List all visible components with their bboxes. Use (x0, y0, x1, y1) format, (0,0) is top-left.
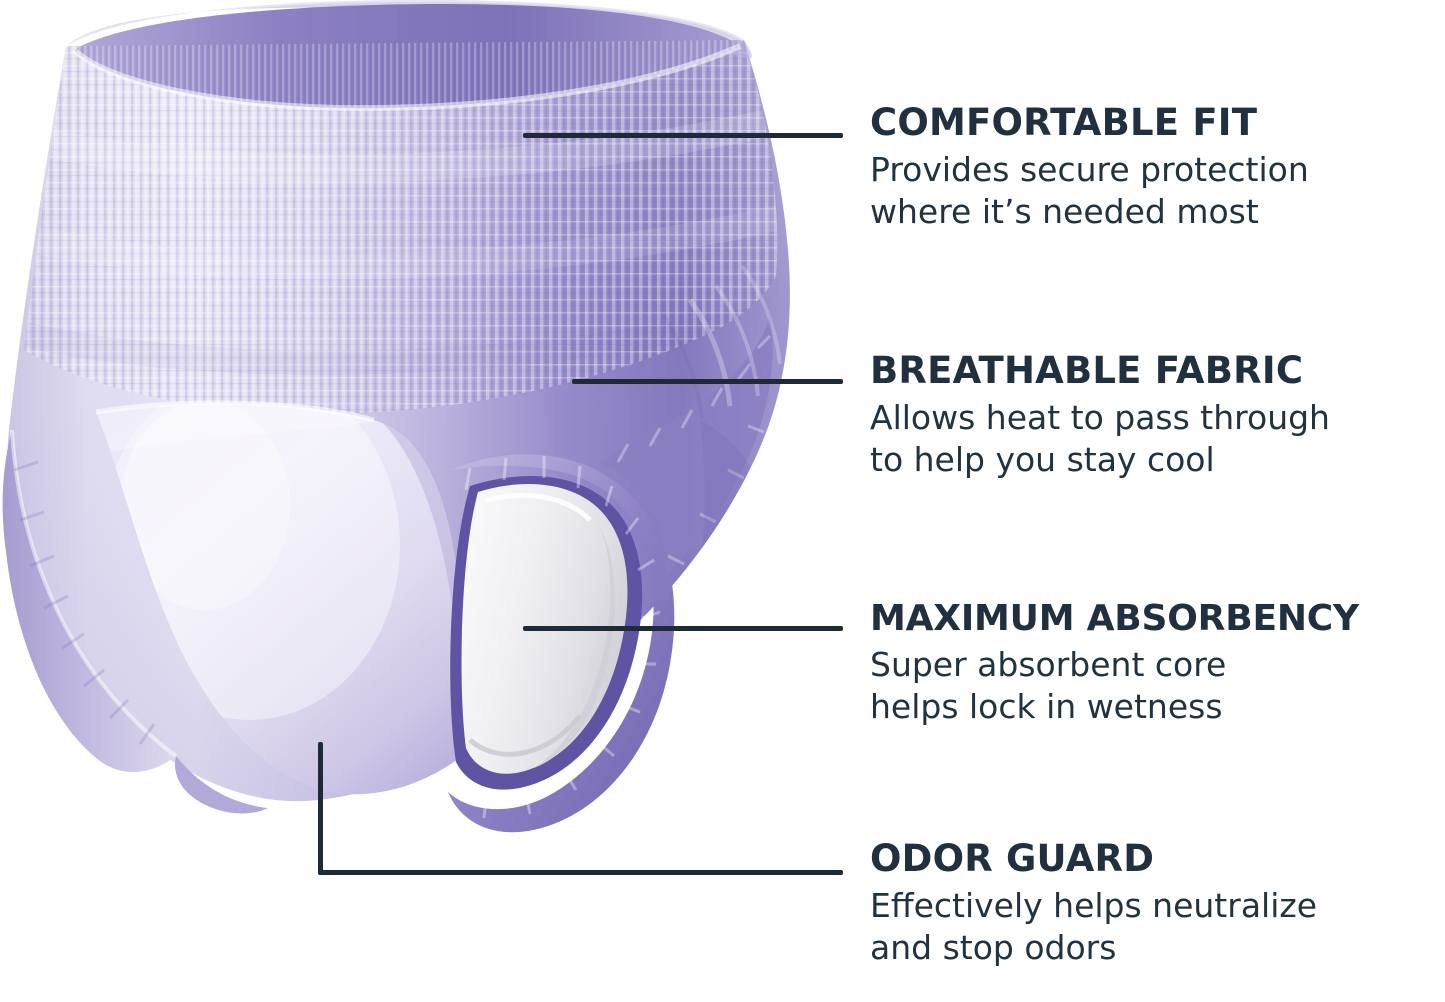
callout-desc-line: Allows heat to pass through (870, 397, 1445, 439)
callout-title-maximum-absorbency: MAXIMUM ABSORBENCY (870, 600, 1445, 638)
product-image (0, 0, 820, 880)
callout-desc-line: where it’s needed most (870, 191, 1445, 233)
callout-desc-line: Provides secure protection (870, 149, 1445, 191)
product-feature-infographic: COMFORTABLE FIT Provides secure protecti… (0, 0, 1445, 1002)
callout-comfortable-fit: COMFORTABLE FIT Provides secure protecti… (870, 104, 1445, 233)
leader-line-odor-guard-vertical (318, 742, 323, 875)
callout-desc-maximum-absorbency: Super absorbent core helps lock in wetne… (870, 644, 1445, 728)
callout-desc-line: helps lock in wetness (870, 686, 1445, 728)
callout-title-odor-guard: ODOR GUARD (870, 840, 1445, 879)
leader-line-breathable-fabric (572, 379, 843, 384)
callout-desc-line: and stop odors (870, 927, 1445, 969)
callout-desc-line: Effectively helps neutralize (870, 885, 1445, 927)
callout-desc-line: to help you stay cool (870, 439, 1445, 481)
callout-desc-line: Super absorbent core (870, 644, 1445, 686)
callout-maximum-absorbency: MAXIMUM ABSORBENCY Super absorbent core … (870, 600, 1445, 728)
leader-line-maximum-absorbency (523, 626, 843, 631)
callout-desc-odor-guard: Effectively helps neutralize and stop od… (870, 885, 1445, 969)
leader-line-odor-guard-horizontal (318, 870, 843, 875)
callout-breathable-fabric: BREATHABLE FABRIC Allows heat to pass th… (870, 352, 1445, 481)
callout-title-comfortable-fit: COMFORTABLE FIT (870, 104, 1445, 143)
callout-odor-guard: ODOR GUARD Effectively helps neutralize … (870, 840, 1445, 969)
product-illustration-svg (0, 0, 820, 880)
callout-desc-comfortable-fit: Provides secure protection where it’s ne… (870, 149, 1445, 233)
callout-title-breathable-fabric: BREATHABLE FABRIC (870, 352, 1445, 391)
leader-line-comfortable-fit (523, 133, 843, 138)
callout-desc-breathable-fabric: Allows heat to pass through to help you … (870, 397, 1445, 481)
